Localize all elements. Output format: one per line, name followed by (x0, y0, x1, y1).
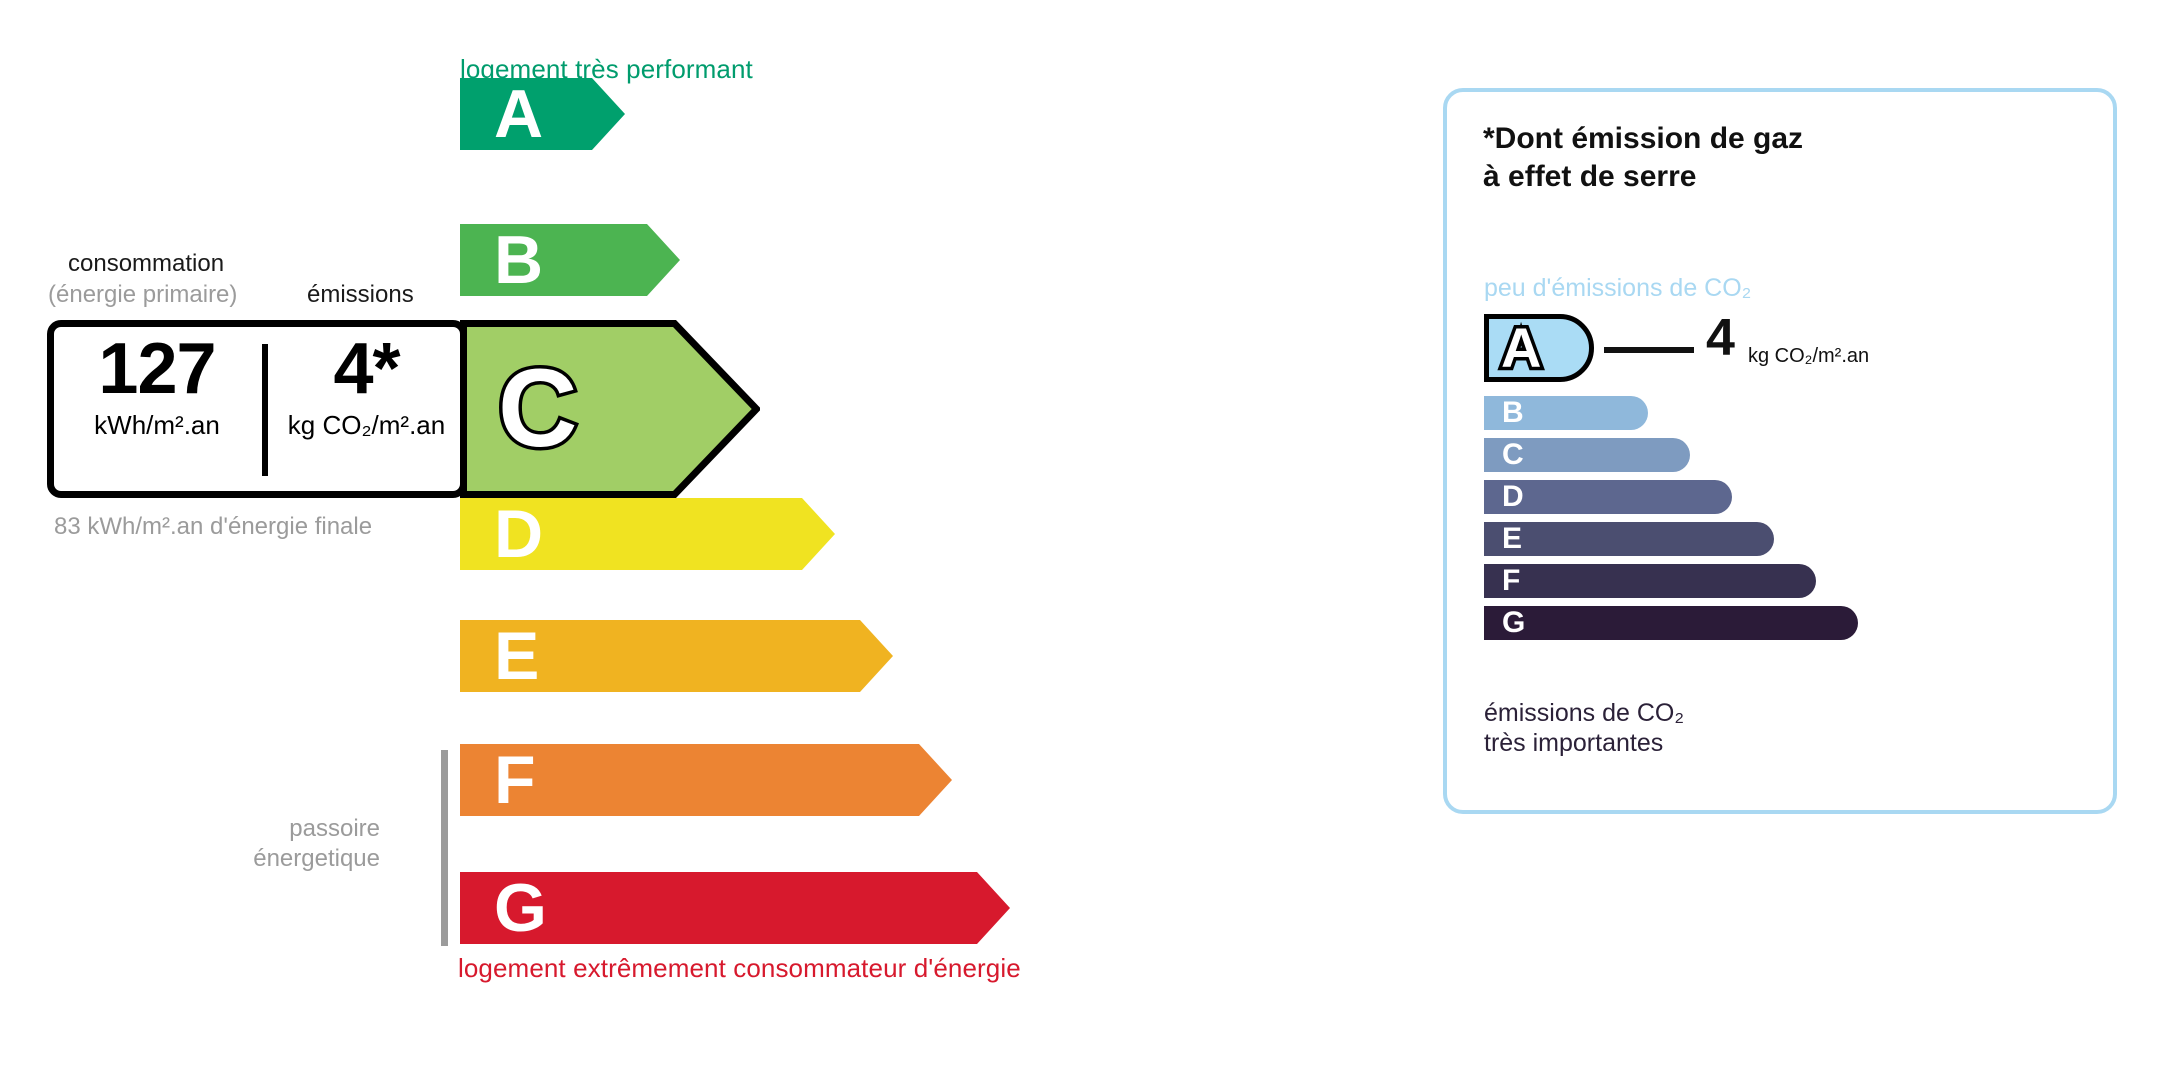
co2-value-unit: kg CO₂/m².an (1748, 345, 1869, 367)
ladder-row-c: C (460, 320, 760, 498)
ladder-arrow-f (460, 744, 952, 816)
value-box-separator (262, 344, 268, 476)
ladder-arrow-e (460, 620, 893, 692)
energy-ladder: logement très performant consommation (é… (0, 0, 1400, 1079)
co2-bar-letter-g: G (1502, 608, 1525, 638)
final-energy-note: 83 kWh/m².an d'énergie finale (54, 512, 372, 542)
co2-bar-c: C (1484, 438, 1690, 472)
ladder-arrow-d (460, 498, 835, 570)
co2-bar-letter-d: D (1502, 482, 1524, 512)
ladder-row-f: F (460, 744, 952, 816)
ladder-row-a: A (460, 78, 625, 150)
ladder-row-e: E (460, 620, 893, 692)
ladder-arrow-g (460, 872, 1010, 944)
ladder-row-g: G (460, 872, 1010, 944)
emissions-unit: kg CO₂/m².an (270, 410, 463, 440)
ladder-row-d: D (460, 498, 835, 570)
co2-bar-f: F (1484, 564, 1816, 598)
co2-leader-line (1604, 347, 1694, 353)
consumption-unit: kWh/m².an (53, 410, 261, 440)
co2-bar-g: G (1484, 606, 1858, 640)
co2-top-caption: peu d'émissions de CO₂ (1484, 274, 1751, 303)
emissions-value: 4* (270, 330, 463, 408)
ladder-arrow-a (460, 78, 625, 150)
header-emissions: émissions (307, 281, 414, 309)
passoire-bracket (441, 750, 448, 946)
ladder-arrow-c (460, 320, 760, 498)
co2-bar-d: D (1484, 480, 1732, 514)
co2-panel-title: *Dont émission de gaz à effet de serre (1483, 120, 1803, 196)
co2-bar-letter-f: F (1502, 566, 1520, 596)
co2-bar-letter-b: B (1502, 398, 1524, 428)
co2-bar-e: E (1484, 522, 1774, 556)
co2-selected-badge: A (1484, 314, 1594, 382)
co2-bar-letter-c: C (1502, 440, 1524, 470)
ladder-arrow-b (460, 224, 680, 296)
ladder-bottom-caption: logement extrêmement consommateur d'éner… (458, 953, 1021, 984)
dpe-diagram: logement très performant consommation (é… (0, 0, 2169, 1079)
co2-bottom-caption: émissions de CO₂ très importantes (1484, 698, 1684, 758)
header-primary-energy: (énergie primaire) (48, 281, 237, 309)
co2-selected-letter: A (1501, 320, 1541, 376)
co2-bar-letter-e: E (1502, 524, 1522, 554)
consumption-cell: 127 kWh/m².an (53, 330, 261, 440)
consumption-value: 127 (53, 330, 261, 408)
co2-bar-b: B (1484, 396, 1648, 430)
ladder-row-b: B (460, 224, 680, 296)
header-consumption: consommation (68, 250, 224, 278)
passoire-label: passoire énergetique (200, 814, 380, 874)
emissions-cell: 4* kg CO₂/m².an (270, 330, 463, 440)
co2-value: 4 (1706, 310, 1735, 366)
